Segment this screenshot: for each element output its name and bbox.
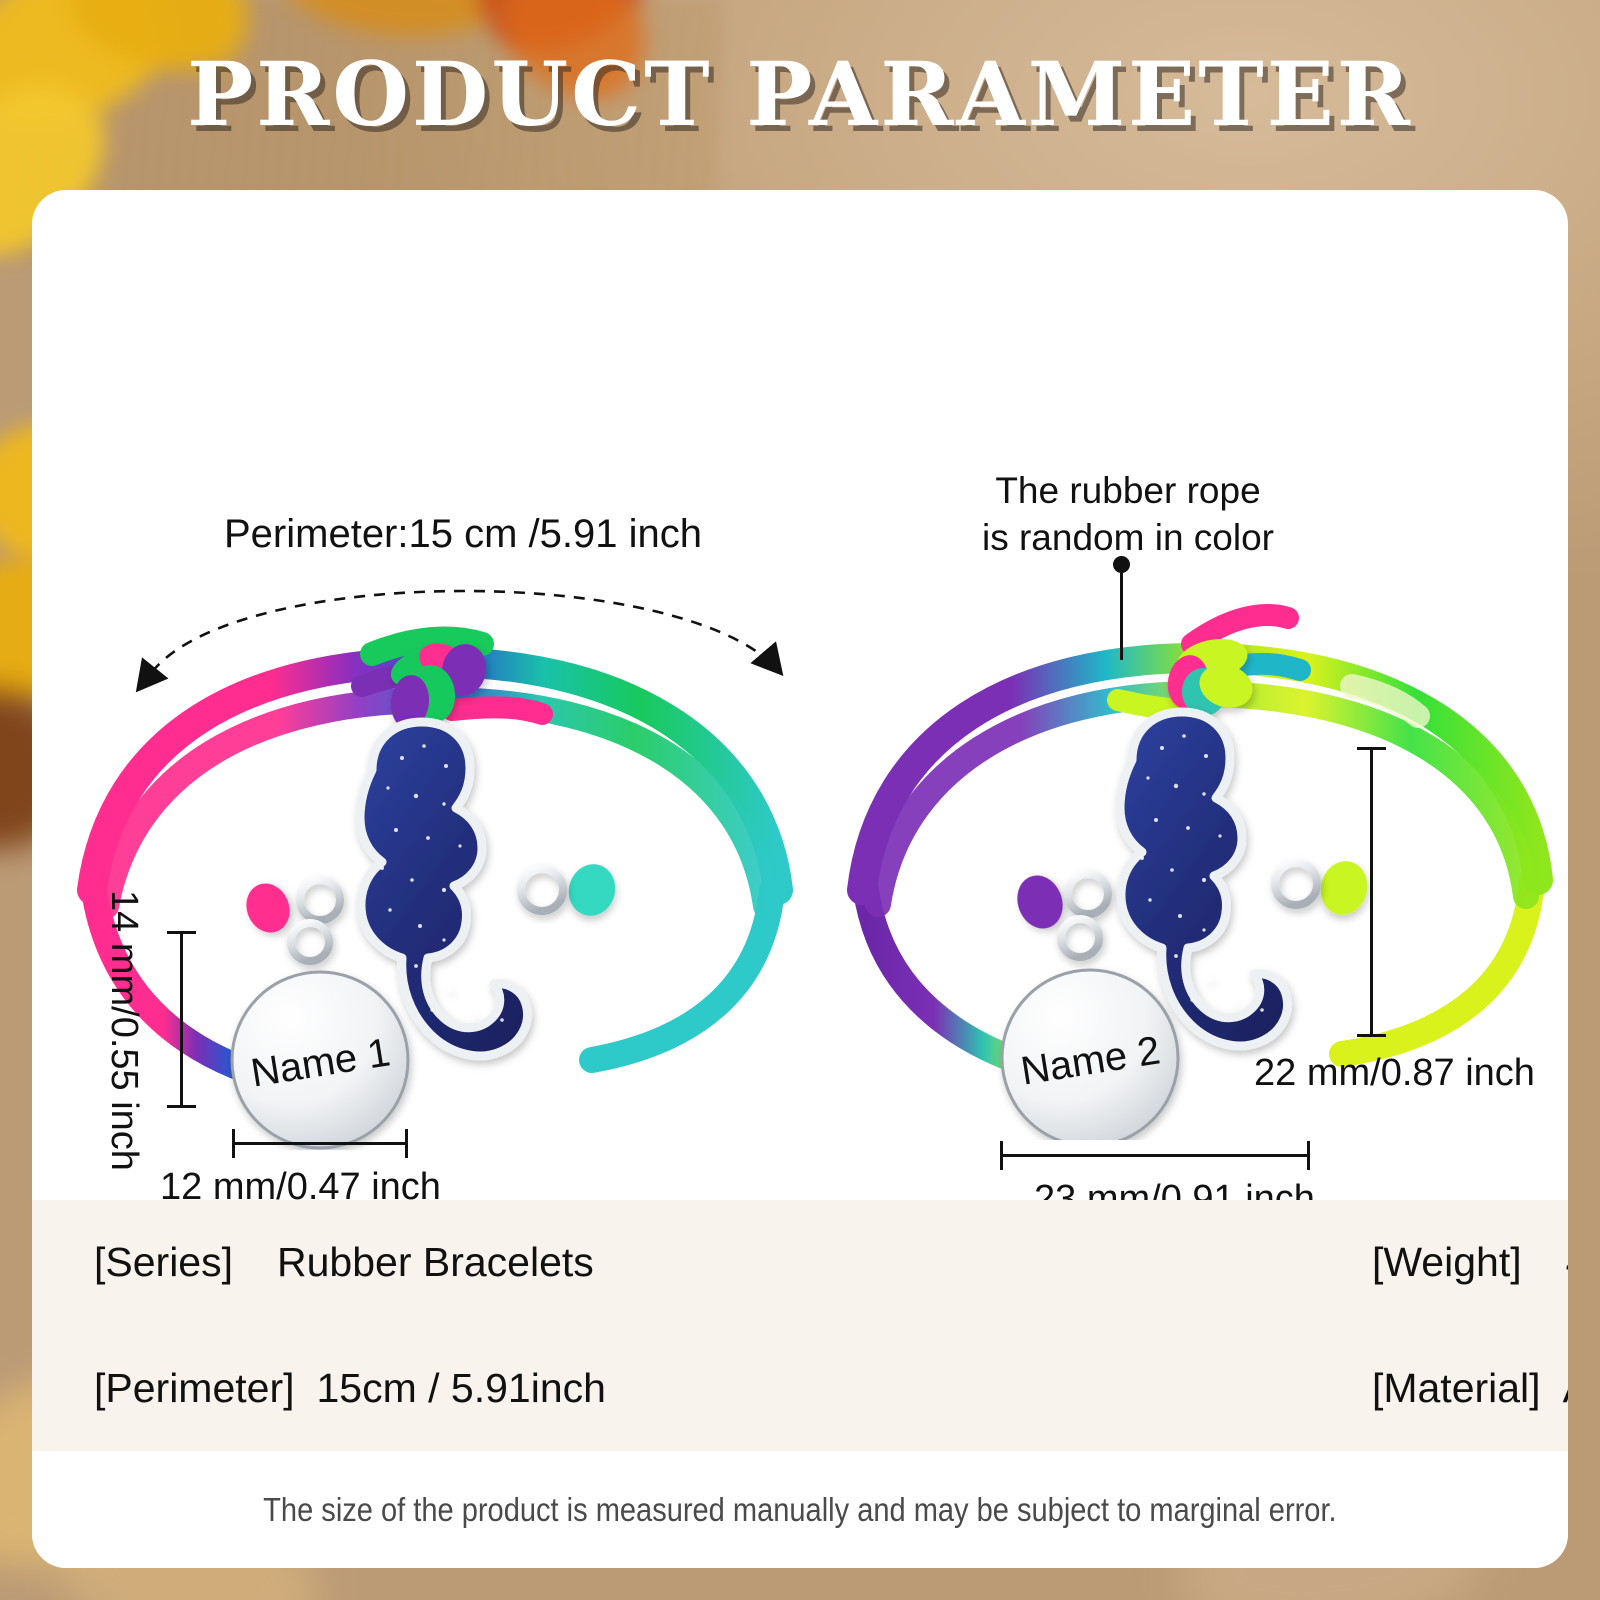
infographic-canvas: PRODUCT PARAMETER — [0, 0, 1600, 1600]
spec-key: [Weight] — [1372, 1239, 1522, 1286]
rope-color-note: The rubber rope is random in color — [978, 468, 1278, 561]
perimeter-annotation: Perimeter:15 cm /5.91 inch — [224, 512, 702, 557]
spec-row-material: [Material] Acrylic + Stainless Steel — [606, 1365, 1568, 1412]
spec-row-series: [Series] Rubber Bracelets — [32, 1239, 606, 1286]
rope-tail — [452, 707, 542, 714]
specification-table: [Series] Rubber Bracelets [Weight] 4.7g … — [32, 1200, 1568, 1451]
jump-ring — [521, 869, 563, 911]
engraved-disc-right: Name 2 — [1002, 919, 1178, 1140]
dimension-rule-vertical-left — [180, 931, 183, 1108]
page-title: PRODUCT PARAMETER — [0, 42, 1600, 146]
spec-key: [Series] — [94, 1239, 233, 1286]
disclaimer-bar: The size of the product is measured manu… — [32, 1451, 1568, 1568]
disc-jump-ring — [291, 923, 329, 961]
dimension-rule-vertical-right — [1370, 747, 1373, 1037]
disclaimer-text: The size of the product is measured manu… — [263, 1491, 1336, 1529]
spec-key: [Perimeter] — [94, 1365, 295, 1412]
dimension-rule-horizontal-right — [1000, 1154, 1310, 1157]
rope-strand-back — [592, 890, 772, 1060]
rope-knot-right — [1315, 856, 1373, 920]
rope-knot-left — [239, 877, 297, 939]
spec-key: [Material] — [1372, 1365, 1541, 1412]
leader-pin-line — [1120, 570, 1123, 660]
dimension-label-charm-height-left: 14 mm/0.55 inch — [102, 890, 145, 1171]
rope-tail — [1192, 615, 1288, 644]
spec-row-weight: [Weight] 4.7g / 0.17oz(About) — [606, 1239, 1568, 1286]
spec-value: 4.7g / 0.17oz(About) — [1566, 1239, 1568, 1286]
rope-knot-left — [1010, 869, 1070, 935]
rope-knot-right — [563, 859, 622, 922]
jump-ring — [300, 880, 340, 920]
disc-jump-ring — [1061, 919, 1099, 957]
jump-ring — [1275, 863, 1317, 905]
spec-value: 15cm / 5.91inch — [317, 1365, 606, 1412]
dimension-rule-horizontal-left — [232, 1142, 408, 1145]
engraved-disc-left: Name 1 — [232, 923, 408, 1148]
spec-value: Rubber Bracelets — [277, 1239, 594, 1286]
product-parameter-card: Name 1 — [32, 190, 1568, 1568]
spec-value: Acrylic + Stainless Steel — [1563, 1365, 1568, 1412]
spec-row-perimeter: [Perimeter] 15cm / 5.91inch — [32, 1365, 606, 1412]
dimension-label-charm-height-right: 22 mm/0.87 inch — [1254, 1052, 1535, 1095]
jump-ring — [1068, 874, 1108, 914]
perimeter-arc-arrow — [128, 546, 808, 706]
